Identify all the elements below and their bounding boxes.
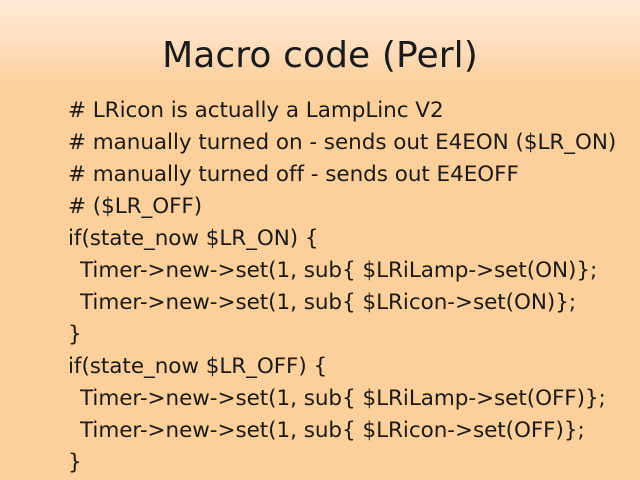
code-line: # manually turned off - sends out E4EOFF [68,159,634,191]
code-line: Timer->new->set(1, sub{ $LRiLamp->set(ON… [68,255,634,287]
code-line: Timer->new->set(1, sub{ $LRicon->set(ON)… [68,287,634,319]
code-line: if(state_now $LR_ON) { [68,223,634,255]
code-block: # LRicon is actually a LampLinc V2# manu… [68,95,634,479]
presentation-slide: Macro code (Perl) # LRicon is actually a… [0,0,640,480]
code-line: } [68,319,634,351]
code-line: # manually turned on - sends out E4EON (… [68,127,634,159]
code-line: if(state_now $LR_OFF) { [68,351,634,383]
page-title: Macro code (Perl) [0,34,640,78]
code-line: Timer->new->set(1, sub{ $LRicon->set(OFF… [68,415,634,447]
code-line: Timer->new->set(1, sub{ $LRiLamp->set(OF… [68,383,634,415]
code-line: # LRicon is actually a LampLinc V2 [68,95,634,127]
code-line: } [68,447,634,479]
code-line: # ($LR_OFF) [68,191,634,223]
